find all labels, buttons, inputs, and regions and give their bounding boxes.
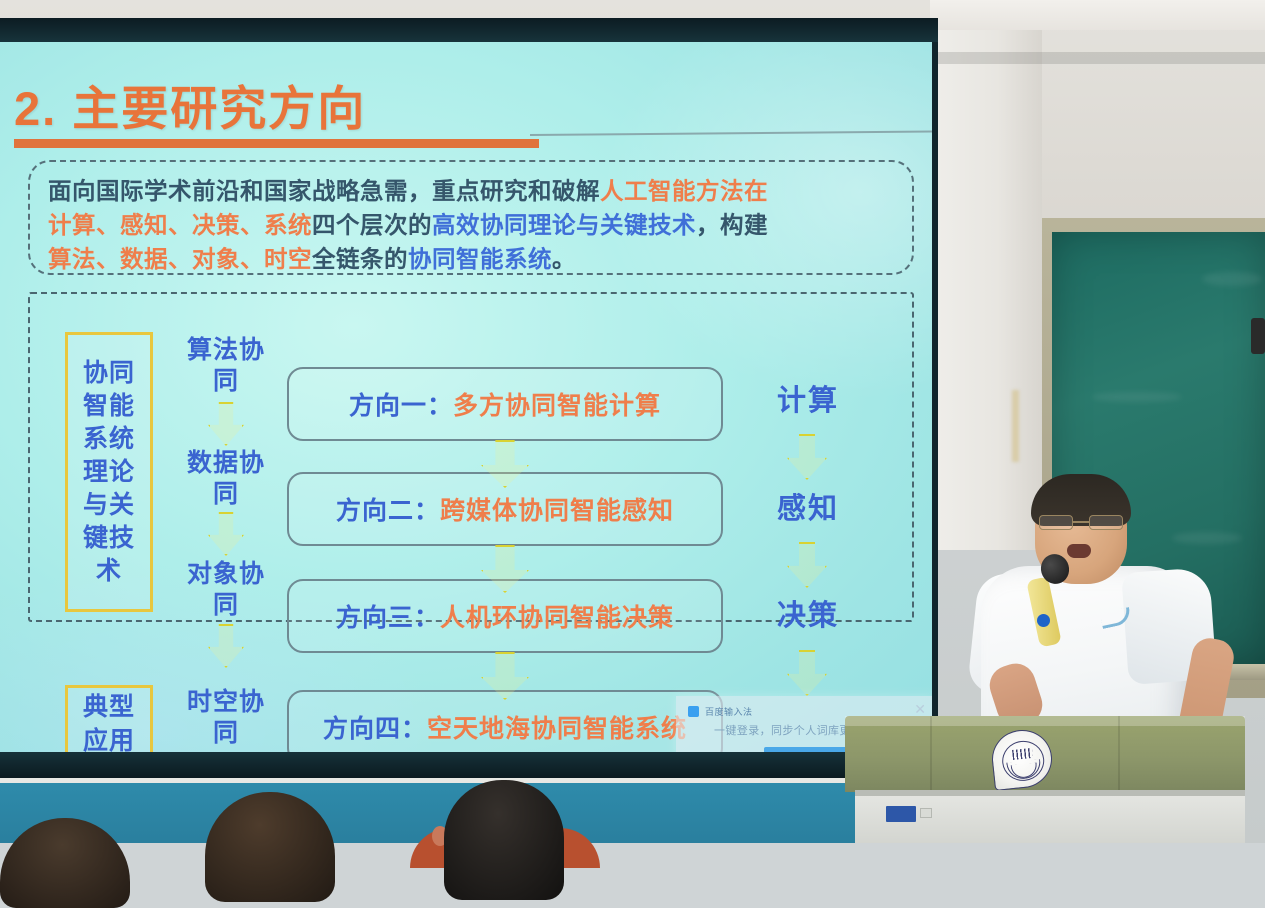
presentation-slide: 2. 主要研究方向 面向国际学术前沿和国家战略急需，重点研究和破解人工智能方法在… bbox=[0, 42, 932, 752]
down-arrow-icon bbox=[208, 624, 244, 668]
direction-2-value: 跨媒体协同智能感知 bbox=[440, 491, 674, 527]
slide-title: 2. 主要研究方向 bbox=[14, 70, 366, 139]
podium-seam bbox=[1118, 716, 1120, 792]
wall-shadow-strip bbox=[930, 52, 1265, 64]
para-seg: 。 bbox=[552, 246, 576, 272]
para-seg: 高效协同理论与关键技术 bbox=[432, 212, 696, 238]
para-seg: 全链条的 bbox=[312, 246, 408, 272]
para-seg: 四个层次的 bbox=[312, 212, 432, 238]
ime-popup-header: 百度输入法 bbox=[688, 705, 753, 718]
close-icon[interactable]: ✕ bbox=[914, 702, 926, 716]
mid-label-algorithm: 算法协同 bbox=[180, 335, 272, 397]
direction-3-label: 方向三： bbox=[336, 598, 440, 634]
left-box-application-label: 典型应用 bbox=[78, 690, 140, 752]
direction-1-value: 多方协同智能计算 bbox=[453, 386, 661, 422]
chalkboard-clip bbox=[1251, 318, 1265, 354]
para-seg: ，构建 bbox=[696, 212, 768, 238]
glasses-icon bbox=[1039, 515, 1125, 530]
title-underline-thin bbox=[530, 130, 932, 136]
podium-seam bbox=[930, 716, 932, 792]
direction-1-label: 方向一： bbox=[349, 386, 453, 422]
podium-base-edge bbox=[855, 790, 1245, 796]
direction-3-value: 人机环协同智能决策 bbox=[440, 598, 674, 634]
screen-top-bar bbox=[0, 18, 938, 42]
tshirt-logo bbox=[1071, 606, 1129, 636]
down-arrow-icon bbox=[787, 650, 827, 696]
podium-sticker bbox=[886, 806, 916, 822]
right-label-perception: 感知 bbox=[756, 485, 860, 527]
podium-top-highlight bbox=[845, 716, 1245, 726]
right-label-decision: 决策 bbox=[756, 592, 860, 634]
left-box-theory: 协同智能系统理论与关键技术 bbox=[65, 332, 153, 612]
direction-box-1: 方向一：多方协同智能计算 bbox=[287, 367, 723, 441]
ime-app-name: 百度输入法 bbox=[705, 705, 753, 718]
left-box-application: 典型应用 bbox=[65, 685, 153, 752]
direction-2-label: 方向二： bbox=[336, 491, 440, 527]
mid-label-spacetime: 时空协同 bbox=[180, 687, 272, 749]
para-seg: 算法、数据、对象、时空 bbox=[48, 246, 312, 272]
speaker-mouth bbox=[1067, 544, 1091, 558]
mid-label-data: 数据协同 bbox=[180, 448, 272, 510]
audience-head bbox=[444, 780, 564, 900]
para-seg: 协同智能系统 bbox=[408, 246, 552, 272]
microphone-button bbox=[1037, 614, 1050, 627]
baidu-logo-icon bbox=[688, 706, 699, 717]
ceiling-band bbox=[930, 0, 1265, 30]
direction-4-label: 方向四： bbox=[323, 709, 427, 745]
paragraph-line-3: 算法、数据、对象、时空全链条的协同智能系统。 bbox=[48, 242, 896, 276]
podium-sticker-secondary bbox=[920, 808, 932, 818]
paragraph-line-2: 计算、感知、决策、系统四个层次的高效协同理论与关键技术，构建 bbox=[48, 208, 896, 242]
wall-paint-streak bbox=[1012, 390, 1019, 462]
mid-label-object: 对象协同 bbox=[180, 559, 272, 621]
right-label-computation: 计算 bbox=[756, 377, 860, 419]
screen-bottom-bar bbox=[0, 752, 938, 778]
theory-group-outline bbox=[28, 292, 914, 622]
para-seg: 人工智能方法在 bbox=[600, 178, 768, 204]
left-box-theory-label: 协同智能系统理论与关键技术 bbox=[78, 357, 140, 588]
paragraph-line-1: 面向国际学术前沿和国家战略急需，重点研究和破解人工智能方法在 bbox=[48, 174, 896, 208]
summary-paragraph-box: 面向国际学术前沿和国家战略急需，重点研究和破解人工智能方法在 计算、感知、决策、… bbox=[28, 160, 914, 275]
wall-pillar bbox=[930, 30, 1042, 550]
direction-4-value: 空天地海协同智能系统 bbox=[427, 709, 687, 745]
para-seg: 面向国际学术前沿和国家战略急需，重点研究和破解 bbox=[48, 178, 600, 204]
para-seg: 计算、感知、决策、系统 bbox=[48, 212, 312, 238]
ime-login-button[interactable]: 登录 bbox=[764, 747, 850, 752]
title-underline-thick bbox=[14, 139, 539, 148]
